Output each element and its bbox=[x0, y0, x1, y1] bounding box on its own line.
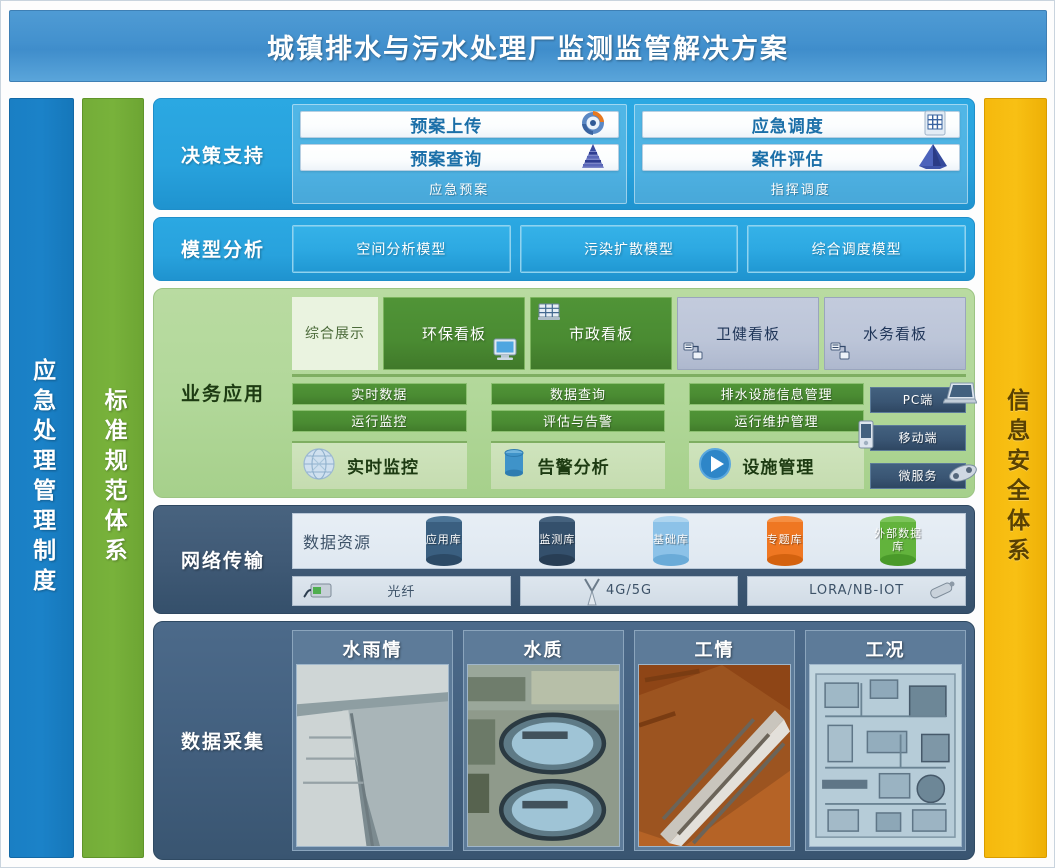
section-data-collection: 数据采集 水雨情 bbox=[153, 621, 975, 860]
board-municipal-label: 市政看板 bbox=[569, 323, 633, 344]
network-icon bbox=[829, 341, 851, 365]
board-municipal[interactable]: 市政看板 bbox=[530, 297, 672, 370]
business-column-query: 数据查询 评估与告警 bbox=[491, 383, 666, 489]
river-embankment-photo bbox=[296, 664, 449, 847]
network-transmission-label: 网络传输 bbox=[154, 513, 292, 606]
feature-facility-management-label: 设施管理 bbox=[742, 453, 814, 478]
board-health-label: 卫健看板 bbox=[716, 323, 780, 344]
database-application-label: 应用库 bbox=[426, 534, 462, 547]
laptop-icon bbox=[943, 380, 977, 411]
database-thematic[interactable]: 专题库 bbox=[757, 514, 813, 568]
data-card-engineering[interactable]: 工情 bbox=[634, 630, 795, 851]
btn-realtime-data[interactable]: 实时数据 bbox=[292, 383, 467, 405]
pyramid-icon bbox=[917, 141, 949, 175]
decision-support-groups: 预案上传 预案查询 bbox=[292, 104, 968, 204]
btn-operation-monitoring[interactable]: 运行监控 bbox=[292, 410, 467, 432]
decision-support-label: 决策支持 bbox=[154, 104, 292, 204]
sidebar-standard-label: 标准规范体系 bbox=[101, 388, 125, 568]
business-application-label: 业务应用 bbox=[154, 297, 292, 489]
decision-group-command-dispatch: 应急调度 案件评估 bbox=[634, 104, 969, 204]
pipeline-trench-photo bbox=[638, 664, 791, 847]
card-plan-query[interactable]: 预案查询 bbox=[300, 144, 619, 171]
database-basic-label: 基础库 bbox=[653, 534, 689, 547]
scada-schematic-photo bbox=[809, 664, 962, 847]
dashboard-row: 综合展示 环保看板 市政看板 bbox=[292, 297, 966, 377]
device-microservice-label: 微服务 bbox=[898, 467, 937, 484]
transmission-links: 光纤 4G/5G LORA/NB-IOT bbox=[292, 576, 966, 606]
database-monitoring[interactable]: 监测库 bbox=[529, 514, 585, 568]
board-environment[interactable]: 环保看板 bbox=[383, 297, 525, 370]
data-card-hydrology-title: 水雨情 bbox=[296, 634, 449, 664]
business-column-monitoring: 实时数据 运行监控 bbox=[292, 383, 467, 489]
page-title-banner: 城镇排水与污水处理厂监测监管解决方案 bbox=[9, 10, 1047, 82]
antenna-icon bbox=[581, 577, 603, 611]
business-module-columns: 实时数据 运行监控 bbox=[292, 383, 864, 489]
globe-icon bbox=[298, 443, 340, 489]
database-application[interactable]: 应用库 bbox=[416, 514, 472, 568]
section-network-transmission: 网络传输 数据资源 应用库 bbox=[153, 505, 975, 614]
card-case-assessment[interactable]: 案件评估 bbox=[642, 144, 961, 171]
database-thematic-label: 专题库 bbox=[767, 534, 803, 547]
sedimentation-tanks-photo bbox=[467, 664, 620, 847]
main-column: 决策支持 预案上传 bbox=[153, 98, 975, 860]
network-icon bbox=[682, 341, 704, 365]
card-case-assessment-label: 案件评估 bbox=[653, 145, 950, 170]
sidebar-emergency-label: 应急处理管理制度 bbox=[29, 358, 53, 598]
network-content: 数据资源 应用库 bbox=[292, 513, 966, 606]
link-lora-label: LORA/NB-IOT bbox=[809, 583, 904, 598]
decision-group-emergency-plan: 预案上传 预案查询 bbox=[292, 104, 627, 204]
device-pc-label: PC端 bbox=[903, 391, 934, 408]
decision-group-emergency-plan-title: 应急预案 bbox=[300, 177, 619, 201]
database-basic[interactable]: 基础库 bbox=[643, 514, 699, 568]
circular-arrow-icon bbox=[578, 108, 608, 142]
sensor-icon bbox=[925, 578, 959, 608]
model-card-spatial[interactable]: 空间分析模型 bbox=[292, 225, 511, 273]
feature-realtime-monitoring-label: 实时监控 bbox=[347, 453, 419, 478]
card-plan-upload[interactable]: 预案上传 bbox=[300, 111, 619, 138]
device-mobile-label: 移动端 bbox=[898, 429, 937, 446]
sidebar-information-security: 信息安全体系 bbox=[984, 98, 1047, 858]
cone-chart-icon bbox=[578, 141, 608, 175]
link-cellular[interactable]: 4G/5G bbox=[520, 576, 739, 606]
data-card-engineering-title: 工情 bbox=[638, 634, 791, 664]
model-analysis-label: 模型分析 bbox=[154, 225, 292, 273]
section-decision-support: 决策支持 预案上传 bbox=[153, 98, 975, 210]
feature-alarm-analysis-label: 告警分析 bbox=[538, 453, 610, 478]
fiber-cable-icon bbox=[303, 579, 337, 607]
grid-table-icon bbox=[921, 108, 949, 142]
board-environment-label: 环保看板 bbox=[422, 323, 486, 344]
database-external-label: 外部数据库 bbox=[870, 528, 926, 553]
data-card-hydrology[interactable]: 水雨情 bbox=[292, 630, 453, 851]
data-card-operating-condition[interactable]: 工况 bbox=[805, 630, 966, 851]
page-title: 城镇排水与污水处理厂监测监管解决方案 bbox=[267, 27, 789, 66]
database-monitoring-label: 监测库 bbox=[539, 534, 575, 547]
device-pc[interactable]: PC端 bbox=[870, 387, 966, 413]
sidebar-security-label: 信息安全体系 bbox=[1003, 388, 1027, 568]
data-resource-band: 数据资源 应用库 bbox=[292, 513, 966, 569]
device-buttons: PC端 移动端 bbox=[870, 383, 966, 489]
btn-drainage-facility-info[interactable]: 排水设施信息管理 bbox=[689, 383, 864, 405]
model-analysis-cards: 空间分析模型 污染扩散模型 综合调度模型 bbox=[292, 225, 966, 273]
data-resource-label: 数据资源 bbox=[303, 529, 371, 553]
link-cellular-label: 4G/5G bbox=[606, 583, 652, 598]
link-fiber-label: 光纤 bbox=[387, 581, 415, 600]
mobile-phone-icon bbox=[855, 420, 877, 453]
diagram-page: 城镇排水与污水处理厂监测监管解决方案 应急处理管理制度 标准规范体系 信息安全体… bbox=[0, 0, 1055, 868]
business-application-content: 综合展示 环保看板 市政看板 bbox=[292, 297, 966, 489]
building-icon bbox=[537, 301, 561, 327]
sidebar-emergency-management: 应急处理管理制度 bbox=[9, 98, 74, 858]
feature-alarm-analysis[interactable]: 告警分析 bbox=[491, 441, 666, 489]
feature-facility-management[interactable]: 设施管理 bbox=[689, 441, 864, 489]
database-external[interactable]: 外部数据库 bbox=[870, 514, 926, 568]
data-collection-cards: 水雨情 bbox=[292, 630, 966, 851]
btn-operation-maintenance[interactable]: 运行维护管理 bbox=[689, 410, 864, 432]
monitor-icon bbox=[492, 337, 518, 365]
decision-group-command-dispatch-title: 指挥调度 bbox=[642, 177, 961, 201]
board-health[interactable]: 卫健看板 bbox=[677, 297, 819, 370]
business-modules: 实时数据 运行监控 bbox=[292, 383, 966, 489]
card-plan-query-label: 预案查询 bbox=[311, 145, 608, 170]
sidebar-standard-system: 标准规范体系 bbox=[82, 98, 144, 858]
model-card-pollution[interactable]: 污染扩散模型 bbox=[520, 225, 739, 273]
business-column-facility: 排水设施信息管理 运行维护管理 设施管理 bbox=[689, 383, 864, 489]
section-business-application: 业务应用 综合展示 环保看板 bbox=[153, 288, 975, 498]
card-emergency-dispatch[interactable]: 应急调度 bbox=[642, 111, 961, 138]
section-model-analysis: 模型分析 空间分析模型 污染扩散模型 综合调度模型 bbox=[153, 217, 975, 281]
database-list: 应用库 监测库 bbox=[387, 514, 955, 568]
data-card-operating-condition-title: 工况 bbox=[809, 634, 962, 664]
database-icon bbox=[497, 443, 531, 489]
data-card-water-quality-title: 水质 bbox=[467, 634, 620, 664]
device-mobile[interactable]: 移动端 bbox=[870, 425, 966, 451]
btn-data-query[interactable]: 数据查询 bbox=[491, 383, 666, 405]
model-card-dispatch[interactable]: 综合调度模型 bbox=[747, 225, 966, 273]
board-water[interactable]: 水务看板 bbox=[824, 297, 966, 370]
card-emergency-dispatch-label: 应急调度 bbox=[653, 112, 950, 137]
link-fiber[interactable]: 光纤 bbox=[292, 576, 511, 606]
card-plan-upload-label: 预案上传 bbox=[311, 112, 608, 137]
device-microservice[interactable]: 微服务 bbox=[870, 463, 966, 489]
board-water-label: 水务看板 bbox=[863, 323, 927, 344]
service-icon bbox=[947, 460, 979, 489]
play-circle-icon bbox=[695, 444, 735, 488]
btn-assessment-alarm[interactable]: 评估与告警 bbox=[491, 410, 666, 432]
data-collection-label: 数据采集 bbox=[154, 630, 292, 851]
data-card-water-quality[interactable]: 水质 bbox=[463, 630, 624, 851]
dashboard-row-label: 综合展示 bbox=[292, 297, 378, 370]
link-lora[interactable]: LORA/NB-IOT bbox=[747, 576, 966, 606]
feature-realtime-monitoring[interactable]: 实时监控 bbox=[292, 441, 467, 489]
